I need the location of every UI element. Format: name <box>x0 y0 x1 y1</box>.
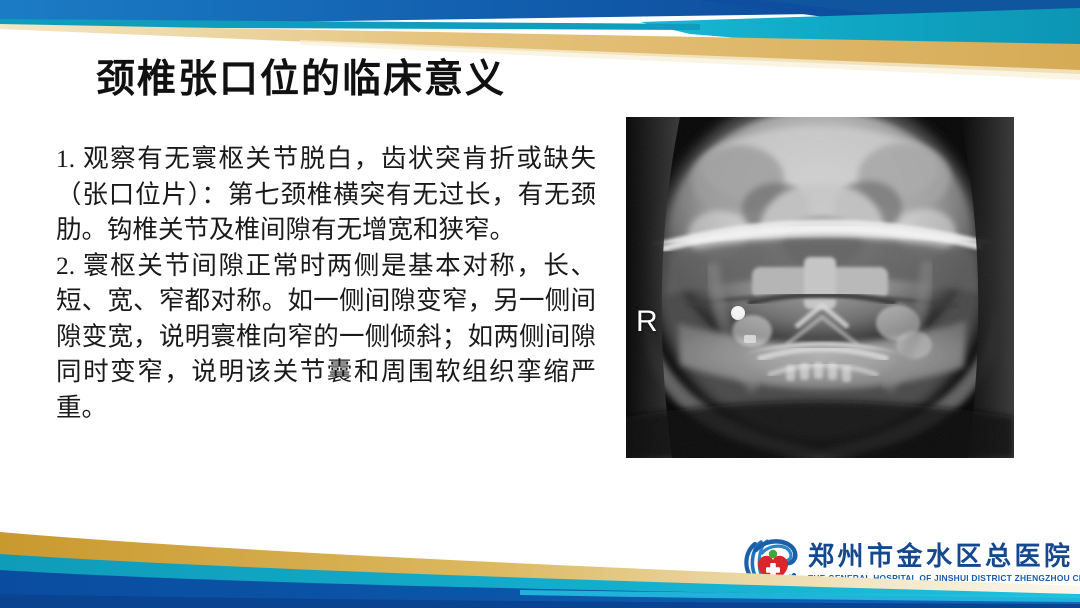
hospital-logo: 郑州市金水区总医院 THE GENERAL HOSPITAL OF JINSHU… <box>742 531 1072 593</box>
xray-right-side-marker: R <box>636 305 658 339</box>
body-paragraph-2: 2. 寰枢关节间隙正常时两侧是基本对称，长、短、宽、窄都对称。如一侧间隙变窄，另… <box>56 248 596 426</box>
slide-title: 颈椎张口位的临床意义 <box>96 48 506 104</box>
body-paragraph-1: 1. 观察有无寰枢关节脱白，齿状突肯折或缺失 （张口位片）：第七颈椎横突有无过长… <box>56 141 596 248</box>
cervical-spine-xray-image: R <box>626 117 1014 458</box>
slide-body-text: 1. 观察有无寰枢关节脱白，齿状突肯折或缺失 （张口位片）：第七颈椎横突有无过长… <box>56 141 596 425</box>
hospital-name-english: THE GENERAL HOSPITAL OF JINSHUI DISTRICT… <box>808 572 1080 584</box>
hospital-name-chinese: 郑州市金水区总医院 <box>808 542 1080 572</box>
hospital-logo-text: 郑州市金水区总医院 THE GENERAL HOSPITAL OF JINSHU… <box>808 540 1080 584</box>
hospital-logo-mark-icon <box>742 534 804 590</box>
presentation-slide: 颈椎张口位的临床意义 1. 观察有无寰枢关节脱白，齿状突肯折或缺失 （张口位片）… <box>0 0 1080 608</box>
